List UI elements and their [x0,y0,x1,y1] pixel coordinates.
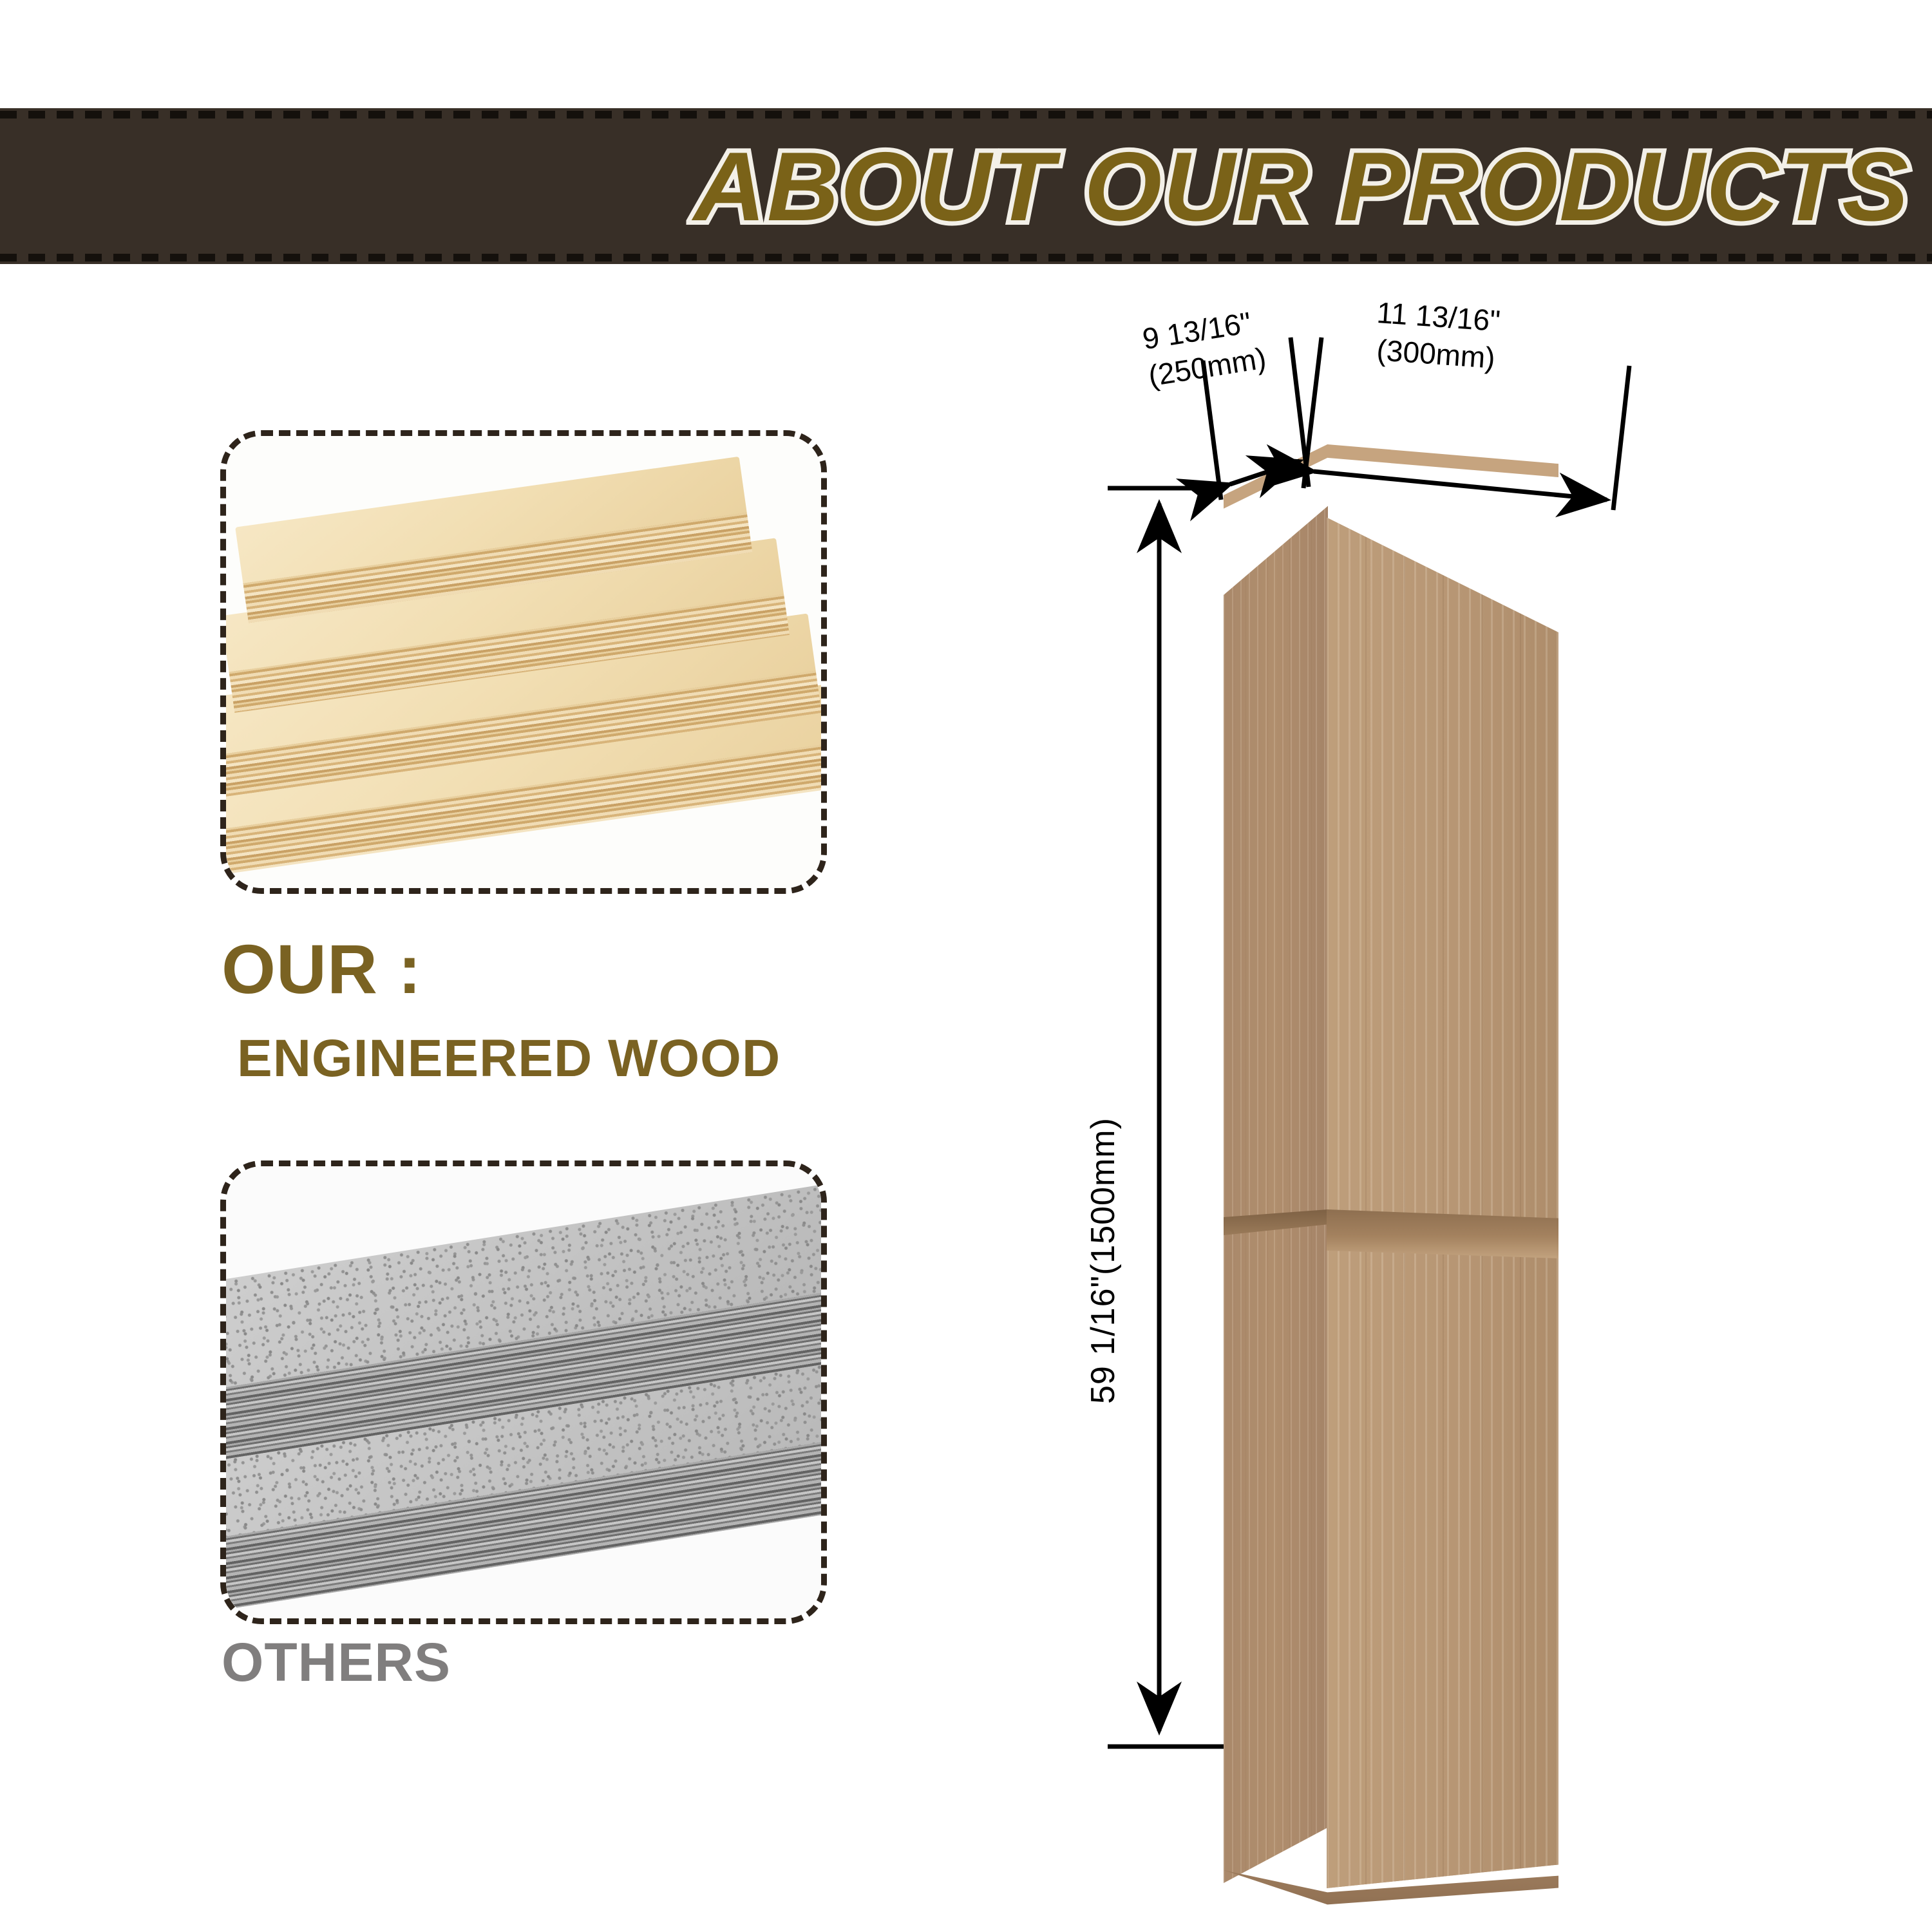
banner-dashed-line-top [0,111,1932,118]
cabinet-groove-front [1327,1209,1558,1258]
our-material-photo-frame [220,430,827,894]
depth-dimension-label: 9 13/16" (250mm) [1140,302,1269,394]
others-label-heading: OTHERS [222,1633,451,1691]
height-dimension-label: 59 1/16"(1500mm) [1084,1117,1122,1404]
cabinet-door-handle-groove [1224,1209,1558,1261]
header-banner: ABOUT OUR PRODUCTS [0,108,1932,264]
our-material-label: ENGINEERED WOOD [237,1030,781,1087]
our-label-heading: OUR : [222,934,422,1005]
cabinet-front-grain [1327,504,1558,1888]
plywood-stack-illustration [226,436,821,888]
cabinet-front-doors [1327,504,1558,1888]
cabinet-side-panel [1224,492,1328,1883]
particleboard-stack-illustration [226,1166,821,1618]
cabinet-illustration [1224,444,1558,1926]
others-material-photo-frame [220,1160,827,1624]
cabinet-top-panel [1224,444,1558,519]
banner-dashed-line-bottom [0,254,1932,261]
height-dimension [1108,488,1224,1747]
comparison-column: OUR : ENGINEERED WOOD OTHERS [0,283,902,1932]
cabinet-groove-side [1224,1209,1328,1235]
page-title: ABOUT OUR PRODUCTS [694,130,1910,243]
our-material-photo [226,436,821,888]
width-dimension-label: 11 13/16" (300mm) [1373,294,1502,377]
product-dimension-diagram: 9 13/16" (250mm) 11 13/16" (300mm) 59 1/… [1030,283,1932,1932]
others-material-photo [226,1166,821,1618]
